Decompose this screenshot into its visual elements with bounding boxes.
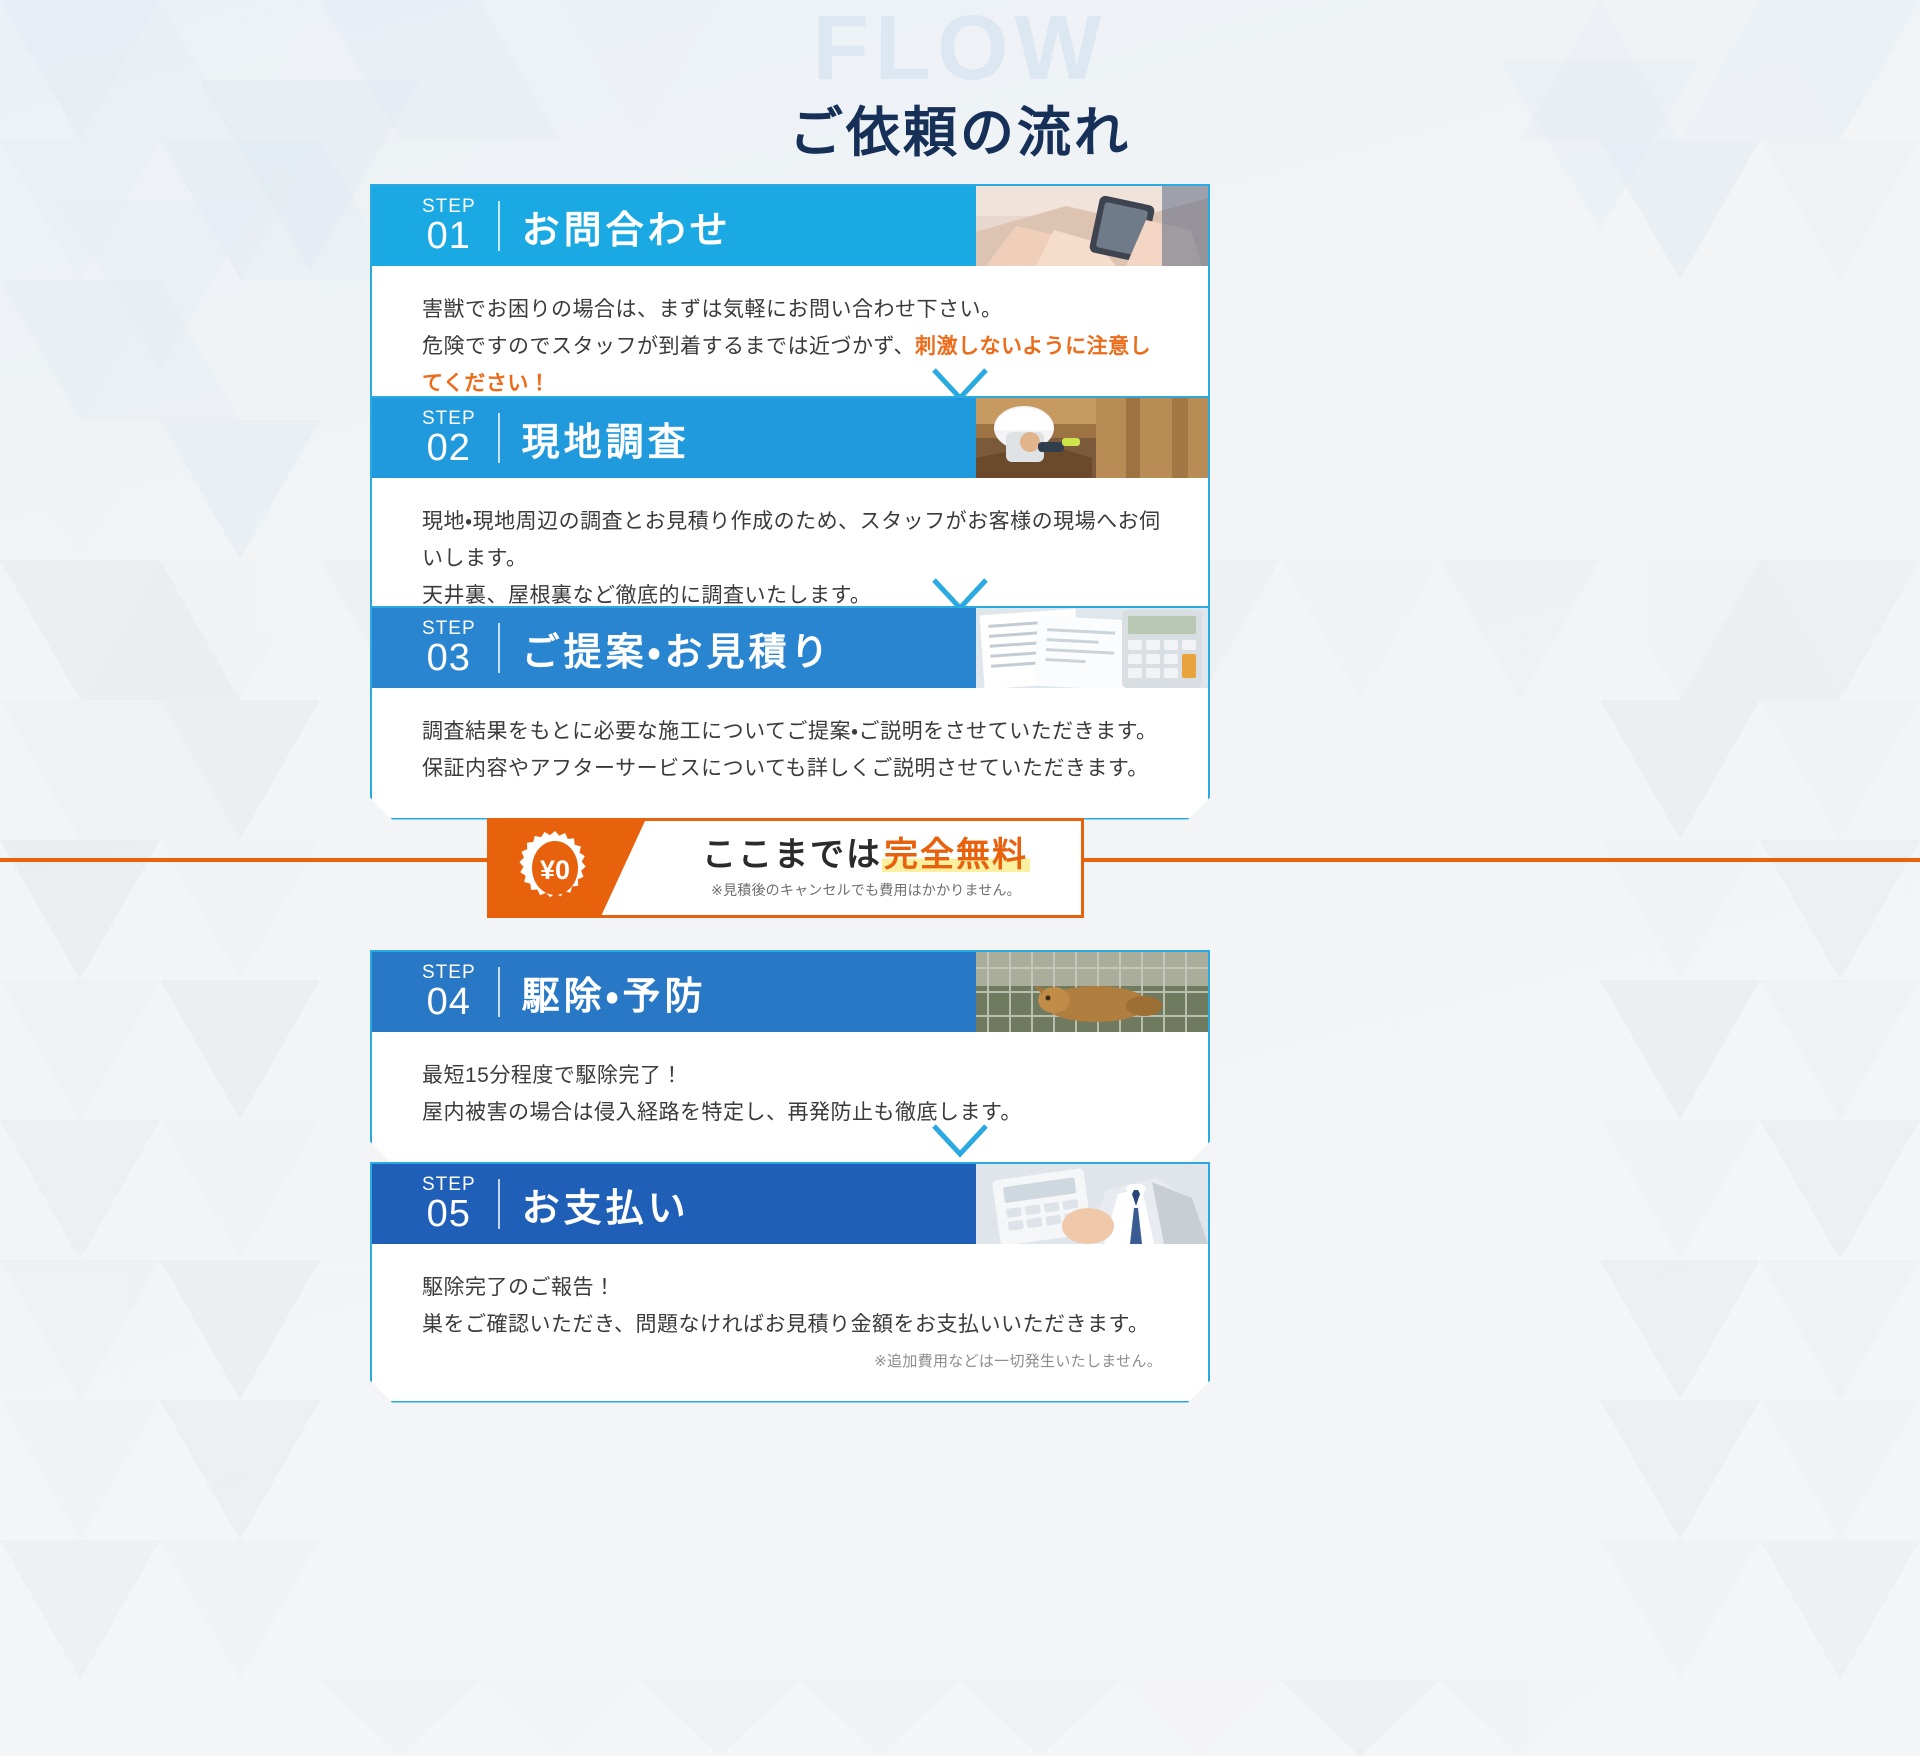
step-header-05: STEP 05 お支払い — [372, 1164, 1208, 1244]
step-card-03[interactable]: STEP 03 ご提案・お見積り 調査結果をもとに必要な施工についてご提案・ご説… — [370, 606, 1210, 820]
step-body-note-05: ※追加費用などは一切発生いたしません。 — [422, 1350, 1162, 1371]
step-number-block-04: STEP 04 — [422, 963, 476, 1021]
step-number-block-02: STEP 02 — [422, 409, 476, 467]
step-word-label-03: STEP — [422, 619, 476, 638]
step-body-03: 調査結果をもとに必要な施工についてご提案・ご説明をさせていただきます。 保証内容… — [372, 688, 1208, 818]
free-badge: ¥0 — [490, 821, 645, 915]
header-divider-02 — [498, 413, 500, 463]
step-number-02: 02 — [422, 429, 476, 467]
step-body-line-03-2: 保証内容やアフターサービスについても詳しくご説明させていただきます。 — [422, 751, 1162, 788]
step-number-03: 03 — [422, 639, 476, 677]
step-number-block-05: STEP 05 — [422, 1175, 476, 1233]
header-divider-04 — [498, 967, 500, 1017]
step-title-04: 駆除・予防 — [522, 965, 707, 1020]
step-body-line-05-2: 巣をご確認いただき、問題なければお見積り金額をお支払いいただきます。 — [422, 1307, 1162, 1344]
page-header: FLOW ご依頼の流れ — [0, 0, 1920, 167]
step-header-04: STEP 04 駆除・予防 — [372, 952, 1208, 1032]
step-body-text-01-2: 危険ですのでスタッフが到着するまでは近づかず、 — [422, 335, 915, 358]
step-word-label-01: STEP — [422, 197, 476, 216]
hero-flow-label: FLOW — [0, 0, 1920, 94]
step-body-05: 駆除完了のご報告！ 巣をご確認いただき、問題なければお見積り金額をお支払いいただ… — [372, 1244, 1208, 1401]
step-word-label-05: STEP — [422, 1175, 476, 1194]
page-title: ご依頼の流れ — [0, 88, 1920, 167]
step-card-05[interactable]: STEP 05 お支払い 駆除完了のご報告！ 巣をご確認いただき、問題なければお… — [370, 1162, 1210, 1403]
step-body-line-05-1: 駆除完了のご報告！ — [422, 1270, 1162, 1307]
free-banner-subtext: ※見積後のキャンセルでも費用はかかりません。 — [651, 880, 1081, 900]
step-number-block-03: STEP 03 — [422, 619, 476, 677]
step-body-line-01-1: 害獣でお困りの場合は、まずは気軽にお問い合わせ下さい。 — [422, 292, 1162, 329]
step-title-02: 現地調査 — [522, 411, 690, 466]
header-divider-01 — [498, 201, 500, 251]
free-banner-headline: ここまでは完全無料 — [651, 836, 1081, 875]
free-estimate-banner: ¥0 ここまでは完全無料 ※見積後のキャンセルでも費用はかかりません。 — [487, 818, 1084, 918]
step-word-label-02: STEP — [422, 409, 476, 428]
free-banner-prefix: ここまでは — [702, 837, 882, 874]
step-body-line-03-1: 調査結果をもとに必要な施工についてご提案・ご説明をさせていただきます。 — [422, 714, 1162, 751]
connector-chevron-4 — [0, 1124, 1920, 1163]
photo-documents-calculator — [976, 608, 1208, 688]
step-number-04: 04 — [422, 983, 476, 1021]
header-divider-05 — [498, 1179, 500, 1229]
svg-text:¥0: ¥0 — [539, 855, 569, 885]
yen-zero-seal-icon: ¥0 — [516, 829, 594, 907]
free-banner-text: ここまでは完全無料 ※見積後のキャンセルでも費用はかかりません。 — [645, 821, 1081, 915]
step-title-03: ご提案・お見積り — [522, 621, 833, 676]
step-number-05: 05 — [422, 1195, 476, 1233]
step-body-line-04-1: 最短15分程度で駆除完了！ — [422, 1058, 1162, 1095]
photo-animal-in-cage-trap — [976, 952, 1208, 1032]
step-header-02: STEP 02 現地調査 — [372, 398, 1208, 478]
header-divider-03 — [498, 623, 500, 673]
photo-worker-attic-inspection — [976, 398, 1208, 478]
photo-hand-smartphone — [976, 186, 1208, 266]
step-title-01: お問合わせ — [522, 199, 732, 254]
step-number-block-01: STEP 01 — [422, 197, 476, 255]
step-body-line-02-1: 現地・現地周辺の調査とお見積り作成のため、スタッフがお客様の現場へお伺いします。 — [422, 504, 1162, 578]
free-banner-highlight: 完全無料 — [882, 837, 1030, 874]
step-header-01: STEP 01 お問合わせ — [372, 186, 1208, 266]
step-header-03: STEP 03 ご提案・お見積り — [372, 608, 1208, 688]
step-number-01: 01 — [422, 217, 476, 255]
step-title-05: お支払い — [522, 1177, 690, 1232]
step-word-label-04: STEP — [422, 963, 476, 982]
photo-staff-with-calculator — [976, 1164, 1208, 1244]
